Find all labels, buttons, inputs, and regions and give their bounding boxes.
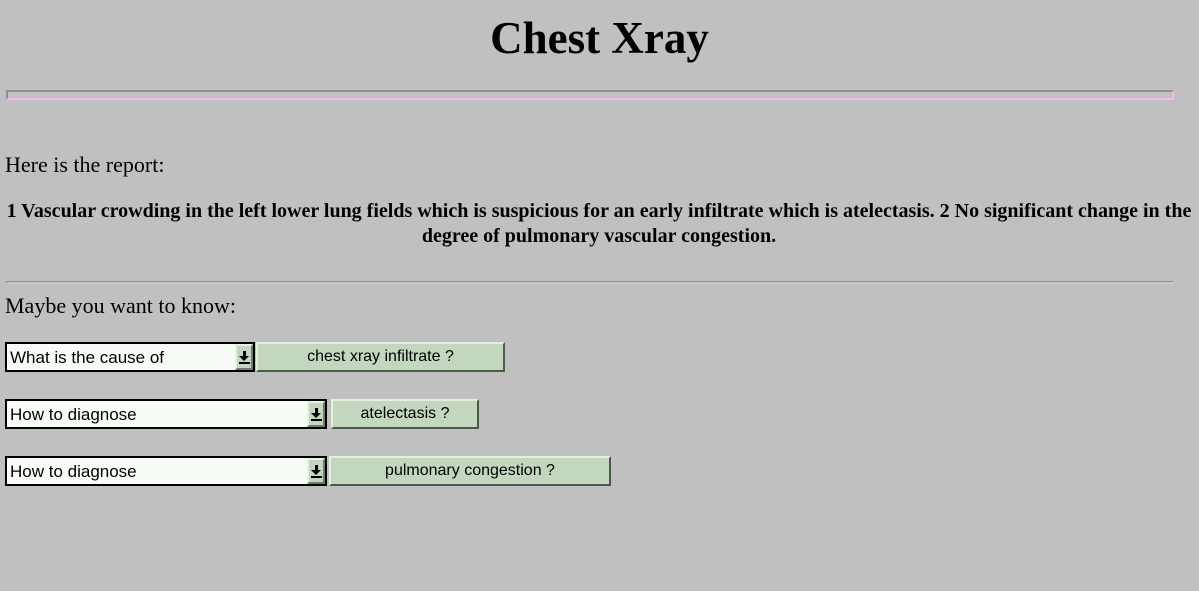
question-row: How to diagnose atelectasis ?	[5, 399, 479, 429]
question-row: How to diagnose pulmonary congestion ?	[5, 456, 611, 486]
question-button-1[interactable]: chest xray infiltrate ?	[256, 342, 505, 372]
question-button-2[interactable]: atelectasis ?	[331, 399, 479, 429]
question-type-select-2-value: How to diagnose	[7, 401, 307, 427]
chevron-down-icon[interactable]	[307, 458, 325, 484]
divider-top	[6, 90, 1174, 100]
down-arrow-glyph	[239, 351, 250, 364]
chevron-down-icon[interactable]	[307, 401, 325, 427]
report-lead-label: Here is the report:	[5, 152, 164, 178]
question-type-select-1-value: What is the cause of	[7, 344, 235, 370]
divider-middle	[6, 281, 1174, 284]
page-root: Chest Xray Here is the report: 1 Vascula…	[0, 0, 1199, 591]
question-row: What is the cause of chest xray infiltra…	[5, 342, 505, 372]
question-type-select-3[interactable]: How to diagnose	[5, 456, 327, 486]
question-type-select-3-value: How to diagnose	[7, 458, 307, 484]
report-text: 1 Vascular crowding in the left lower lu…	[4, 199, 1194, 249]
question-type-select-2[interactable]: How to diagnose	[5, 399, 327, 429]
down-arrow-glyph	[311, 465, 322, 478]
page-title: Chest Xray	[0, 0, 1199, 64]
down-arrow-glyph	[311, 408, 322, 421]
question-button-3[interactable]: pulmonary congestion ?	[329, 456, 611, 486]
question-type-select-1[interactable]: What is the cause of	[5, 342, 255, 372]
chevron-down-icon[interactable]	[235, 344, 253, 370]
questions-heading: Maybe you want to know:	[5, 293, 236, 319]
